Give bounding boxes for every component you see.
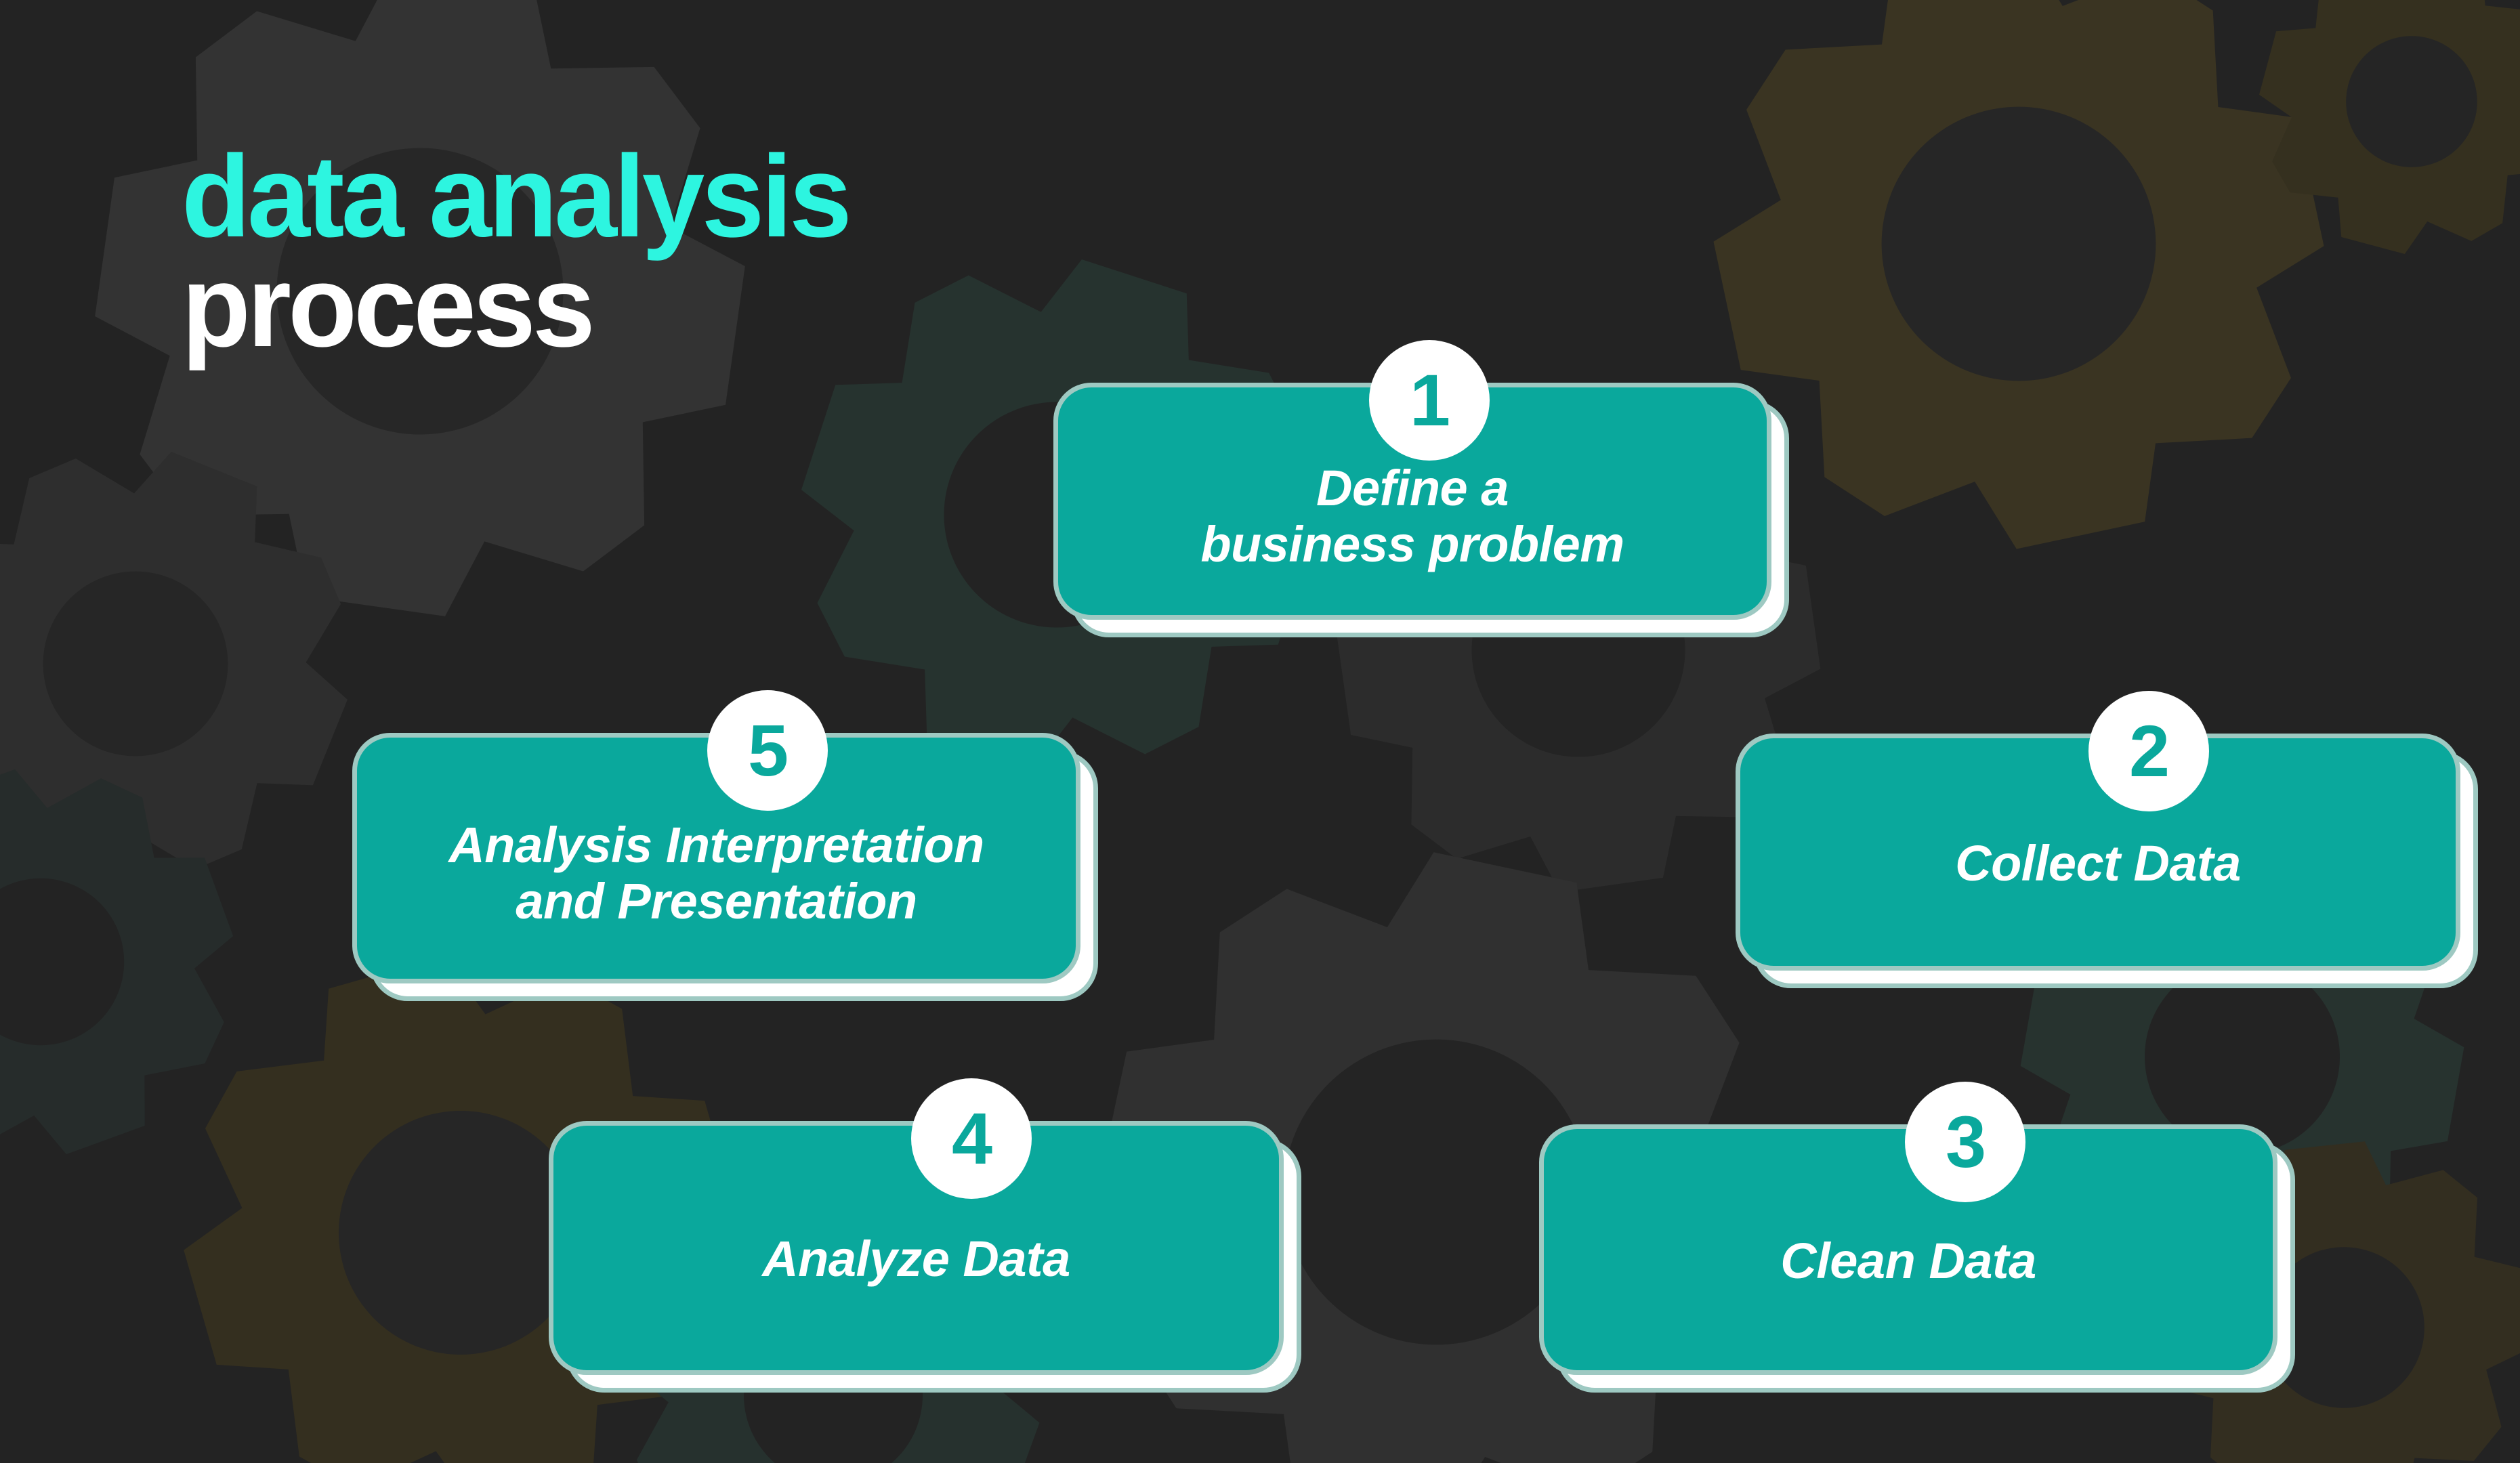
step-number-badge: 3 <box>1905 1082 2025 1202</box>
gear-shape-left-edge-teal <box>0 719 284 1205</box>
title-line-process: process <box>182 252 849 362</box>
page-title: data analysis process <box>182 142 869 361</box>
process-step-card-2[interactable]: Collect Data 2 <box>1736 734 2460 971</box>
process-step-card-3[interactable]: Clean Data 3 <box>1539 1124 2277 1375</box>
process-step-card-4[interactable]: Analyze Data 4 <box>549 1121 1284 1375</box>
step-label: Analyze Data <box>762 1231 1070 1288</box>
step-number-badge: 5 <box>707 690 828 811</box>
process-step-card-1[interactable]: Define a business problem 1 <box>1053 383 1771 620</box>
step-number: 4 <box>952 1102 991 1175</box>
step-number: 5 <box>748 714 787 787</box>
step-label: Define a business problem <box>1200 461 1624 573</box>
step-number: 1 <box>1410 364 1449 437</box>
title-line-data-analysis: data analysis <box>182 142 849 252</box>
step-number-badge: 1 <box>1369 340 1490 461</box>
step-number-badge: 2 <box>2088 691 2209 811</box>
gear-shape-far-top-right <box>2229 0 2520 284</box>
step-label: Collect Data <box>1955 836 2241 892</box>
step-label: Analysis Interpretation and Presentation <box>448 818 984 930</box>
gear-shape-mid-left <box>0 390 409 937</box>
step-number: 3 <box>1946 1105 1985 1179</box>
step-label: Clean Data <box>1780 1233 2036 1290</box>
data-analysis-process-slide: data analysis process Define a business … <box>0 0 2520 1463</box>
step-number-badge: 4 <box>911 1078 1032 1199</box>
process-step-card-5[interactable]: Analysis Interpretation and Presentation… <box>352 733 1080 983</box>
step-number: 2 <box>2129 715 2168 788</box>
